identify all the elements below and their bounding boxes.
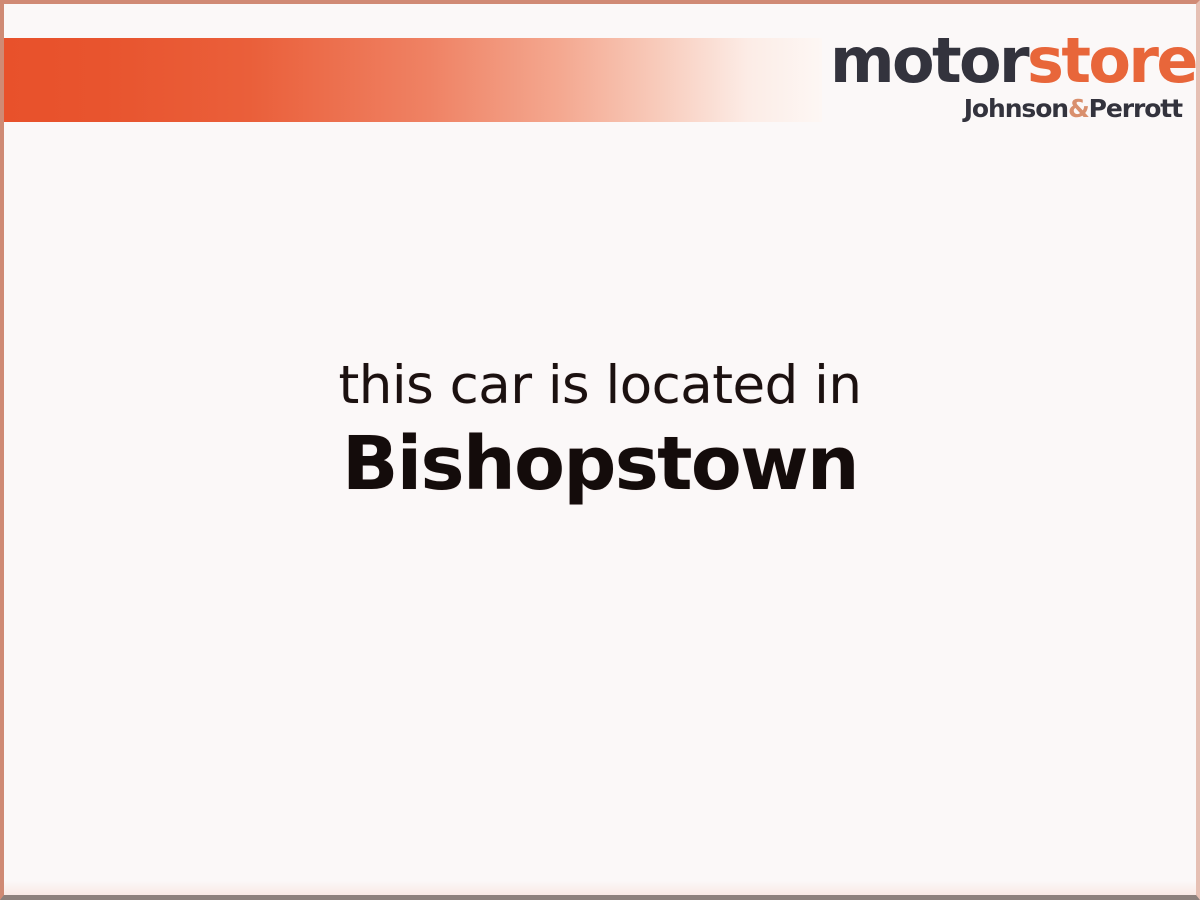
- location-name: Bishopstown: [4, 425, 1196, 505]
- logo-wordmark: motorstore: [830, 30, 1182, 92]
- header-banner: motorstore Johnson&Perrott: [4, 4, 1196, 130]
- logo-subtitle-ampersand: &: [1068, 94, 1089, 123]
- logo-subtitle: Johnson&Perrott: [830, 96, 1182, 121]
- location-slide: motorstore Johnson&Perrott this car is l…: [0, 0, 1200, 900]
- message-caption: this car is located in: [4, 356, 1196, 415]
- logo-word-motor: motor: [830, 24, 1027, 97]
- orange-gradient-bar: [4, 38, 822, 122]
- logo-word-store: store: [1027, 24, 1196, 97]
- logo-subtitle-johnson: Johnson: [964, 94, 1068, 123]
- motorstore-logo[interactable]: motorstore Johnson&Perrott: [830, 30, 1182, 121]
- location-message: this car is located in Bishopstown: [4, 356, 1196, 505]
- logo-subtitle-perrott: Perrott: [1089, 94, 1182, 123]
